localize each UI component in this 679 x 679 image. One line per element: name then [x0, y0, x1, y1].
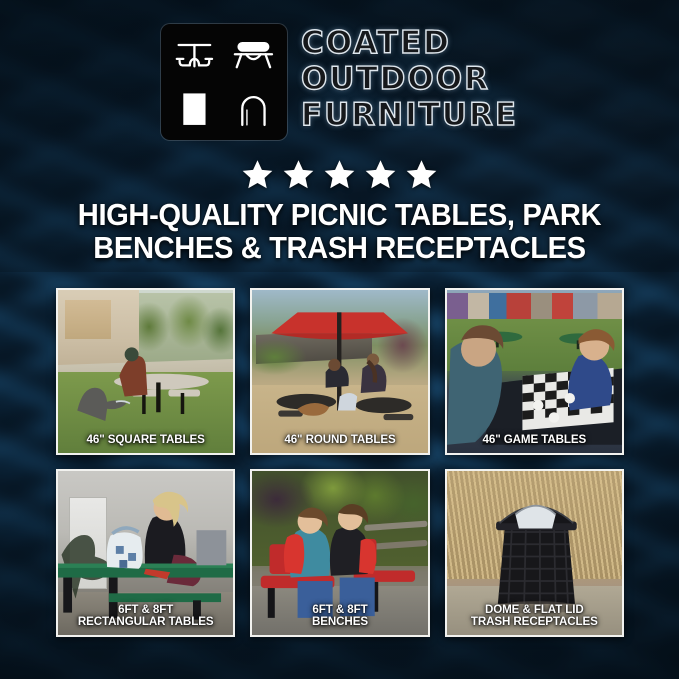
- star-icon: [323, 158, 356, 191]
- headline-line-2: BENCHES & TRASH RECEPTACLES: [46, 232, 633, 265]
- star-icon: [282, 158, 315, 191]
- product-tile-rectangular-tables[interactable]: 6FT & 8FT RECTANGULAR TABLES: [56, 469, 235, 637]
- square-tables-photo: [58, 290, 233, 453]
- tile-caption: 6FT & 8FT RECTANGULAR TABLES: [60, 604, 231, 629]
- product-tile-round-tables[interactable]: 46" ROUND TABLES: [250, 288, 429, 455]
- star-rating: [0, 158, 679, 191]
- product-tile-square-tables[interactable]: 46" SQUARE TABLES: [56, 288, 235, 455]
- caption-line: 46" GAME TABLES: [449, 434, 620, 447]
- logo-wordmark: COATED OUTDOOR FURNITURE: [301, 24, 518, 133]
- caption-line: 46" SQUARE TABLES: [60, 434, 231, 447]
- product-category-grid: 46" SQUARE TABLES: [56, 288, 624, 637]
- caption-line: 46" ROUND TABLES: [254, 434, 425, 447]
- wordmark-line-1: COATED: [301, 25, 451, 61]
- wordmark-line-2: OUTDOOR: [301, 61, 490, 97]
- tile-caption: 46" SQUARE TABLES: [60, 434, 231, 447]
- tile-caption: 46" ROUND TABLES: [254, 434, 425, 447]
- tile-caption: DOME & FLAT LID TRASH RECEPTACLES: [449, 604, 620, 629]
- caption-line: TRASH RECEPTACLES: [449, 616, 620, 629]
- product-tile-game-tables[interactable]: 46" GAME TABLES: [445, 288, 624, 455]
- tile-caption: 46" GAME TABLES: [449, 434, 620, 447]
- headline-line-1: HIGH-QUALITY PICNIC TABLES, PARK: [46, 199, 633, 232]
- star-icon: [405, 158, 438, 191]
- bike-rack-arch-icon: [225, 84, 282, 136]
- round-tables-photo: [252, 290, 427, 453]
- game-tables-photo: [447, 290, 622, 453]
- picnic-table-icon: [166, 29, 223, 81]
- caption-line: RECTANGULAR TABLES: [60, 616, 231, 629]
- tile-caption: 6FT & 8FT BENCHES: [254, 604, 425, 629]
- product-tile-benches[interactable]: 6FT & 8FT BENCHES: [250, 469, 429, 637]
- trash-receptacle-icon: [166, 84, 223, 136]
- star-icon: [364, 158, 397, 191]
- bench-table-icon: [225, 29, 282, 81]
- caption-line: BENCHES: [254, 616, 425, 629]
- wordmark-line-3: FURNITURE: [301, 97, 518, 133]
- page-headline: HIGH-QUALITY PICNIC TABLES, PARK BENCHES…: [46, 199, 633, 265]
- brand-logo: COATED OUTDOOR FURNITURE: [0, 24, 679, 140]
- star-icon: [241, 158, 274, 191]
- logo-icon-grid: [161, 24, 287, 140]
- product-tile-trash-receptacles[interactable]: DOME & FLAT LID TRASH RECEPTACLES: [445, 469, 624, 637]
